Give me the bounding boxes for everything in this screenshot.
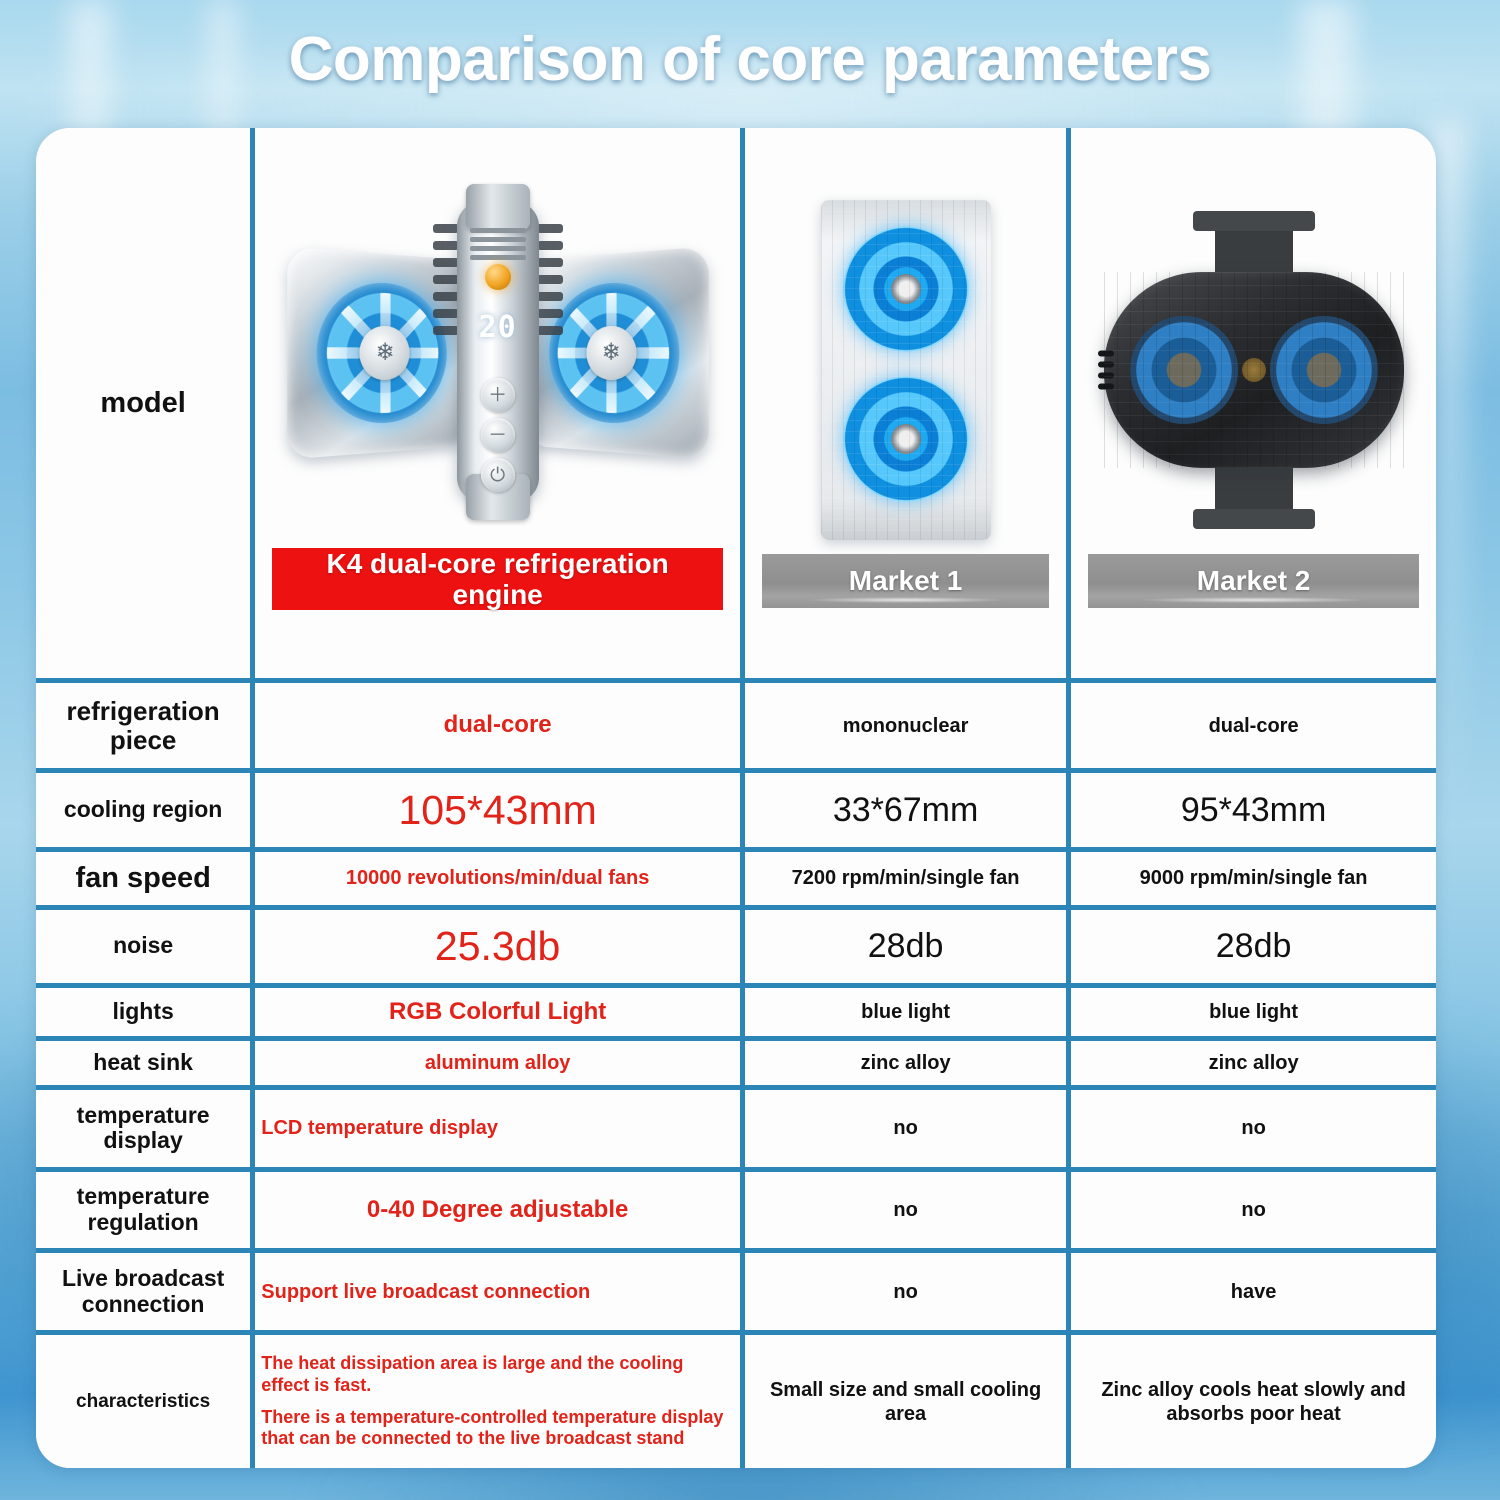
cell-market2-4: blue light (1069, 986, 1436, 1039)
cell-market2-8: have (1069, 1251, 1436, 1333)
cell-market2-1: 95*43mm (1069, 771, 1436, 850)
cell-market1-1: 33*67mm (743, 771, 1069, 850)
cell-k4-5-text: aluminum alloy (261, 1051, 734, 1075)
k4-cooler-illustration: ❄ (283, 192, 713, 542)
cell-k4-6-text: LCD temperature display (261, 1116, 734, 1140)
cell-market2-8-text: have (1077, 1280, 1430, 1304)
cell-market1-2-text: 7200 rpm/min/single fan (751, 866, 1060, 890)
cell-k4-5: aluminum alloy (253, 1039, 743, 1088)
cell-k4-2-text: 10000 revolutions/min/dual fans (261, 866, 734, 890)
cell-market2-1-text: 95*43mm (1077, 790, 1430, 831)
cell-k4-9-text: The heat dissipation area is large and t… (261, 1353, 734, 1449)
table-row: noise25.3db28db28db (36, 907, 1436, 986)
row-label-6: temperature display (36, 1088, 253, 1170)
row-label-0-text: refrigeration piece (42, 697, 244, 755)
amber-indicator-light (485, 264, 511, 290)
product-cell-k4: ❄ (253, 128, 743, 681)
table-header-row: model (36, 128, 1436, 681)
row-label-5-text: heat sink (42, 1050, 244, 1076)
k4-center-body: 20 ＋ － ⏻ (457, 202, 539, 502)
cell-market1-5: zinc alloy (743, 1039, 1069, 1088)
cell-market2-6: no (1069, 1088, 1436, 1170)
table-row: temperature displayLCD temperature displ… (36, 1088, 1436, 1170)
cell-market1-3-text: 28db (751, 926, 1060, 967)
cell-k4-8-text: Support live broadcast connection (261, 1280, 734, 1304)
cell-market1-8: no (743, 1251, 1069, 1333)
table-row: heat sinkaluminum alloyzinc alloyzinc al… (36, 1039, 1436, 1088)
row-label-1: cooling region (36, 771, 253, 850)
cell-market2-2-text: 9000 rpm/min/single fan (1077, 866, 1430, 890)
k4-grille-slots (470, 224, 526, 264)
cell-market1-4: blue light (743, 986, 1069, 1039)
product-image-k4: ❄ (261, 190, 734, 544)
comparison-table: model (36, 128, 1436, 1468)
k4-right-vents (537, 216, 563, 366)
cell-market2-4-text: blue light (1077, 1000, 1430, 1024)
pixelation-overlay (1104, 272, 1404, 468)
row-label-4: lights (36, 986, 253, 1039)
cell-k4-3: 25.3db (253, 907, 743, 986)
snowflake-icon: ❄ (359, 325, 409, 380)
product-image-market2 (1077, 190, 1430, 550)
cell-market1-0-text: mononuclear (751, 714, 1060, 738)
row-label-9-text: characteristics (42, 1391, 244, 1412)
cell-k4-8: Support live broadcast connection (253, 1251, 743, 1333)
cell-k4-7-text: 0-40 Degree adjustable (261, 1196, 734, 1225)
market1-cooler-illustration (821, 200, 991, 540)
row-label-3-text: noise (42, 933, 244, 959)
cell-market2-9-text: Zinc alloy cools heat slowly and absorbs… (1077, 1378, 1430, 1426)
row-label-2-text: fan speed (42, 862, 244, 894)
row-label-3: noise (36, 907, 253, 986)
cell-k4-0: dual-core (253, 681, 743, 771)
product-cell-market1: Market 1 (743, 128, 1069, 681)
cell-market2-5-text: zinc alloy (1077, 1051, 1430, 1075)
power-icon[interactable]: ⏻ (481, 458, 515, 492)
product-image-market1 (751, 190, 1060, 550)
cell-market1-5-text: zinc alloy (751, 1051, 1060, 1075)
cell-market2-3: 28db (1069, 907, 1436, 986)
table-row: temperature regulation0-40 Degree adjust… (36, 1169, 1436, 1251)
cell-market1-9-text: Small size and small cooling area (751, 1378, 1060, 1426)
cell-k4-1-text: 105*43mm (261, 786, 734, 835)
row-label-2: fan speed (36, 849, 253, 907)
cell-market1-7: no (743, 1169, 1069, 1251)
cell-market1-7-text: no (751, 1198, 1060, 1222)
row-label-8-text: Live broadcast connection (42, 1266, 244, 1318)
cell-k4-0-text: dual-core (261, 711, 734, 740)
row-label-6-text: temperature display (42, 1103, 244, 1155)
cell-k4-3-text: 25.3db (261, 922, 734, 971)
pixelation-overlay (821, 200, 991, 540)
cell-market2-9: Zinc alloy cools heat slowly and absorbs… (1069, 1333, 1436, 1468)
row-label-model: model (36, 128, 253, 681)
cell-market1-3: 28db (743, 907, 1069, 986)
row-label-8: Live broadcast connection (36, 1251, 253, 1333)
product-name-badge-k4: K4 dual-core refrigeration engine (272, 548, 723, 610)
row-label-5: heat sink (36, 1039, 253, 1088)
product-name-badge-market1: Market 1 (762, 554, 1049, 608)
cell-market1-8-text: no (751, 1280, 1060, 1304)
k4-left-fan: ❄ (316, 279, 446, 426)
row-label-9: characteristics (36, 1333, 253, 1468)
cell-market1-9: Small size and small cooling area (743, 1333, 1069, 1468)
cell-k4-7: 0-40 Degree adjustable (253, 1169, 743, 1251)
table-row: Live broadcast connectionSupport live br… (36, 1251, 1436, 1333)
minus-icon[interactable]: － (481, 418, 515, 452)
cell-market1-2: 7200 rpm/min/single fan (743, 849, 1069, 907)
cell-k4-9: The heat dissipation area is large and t… (253, 1333, 743, 1468)
table-row: characteristicsThe heat dissipation area… (36, 1333, 1436, 1468)
product-cell-market2: Market 2 (1069, 128, 1436, 681)
cell-k4-6: LCD temperature display (253, 1088, 743, 1170)
row-label-7-text: temperature regulation (42, 1184, 244, 1236)
cell-market2-3-text: 28db (1077, 926, 1430, 967)
cell-market2-2: 9000 rpm/min/single fan (1069, 849, 1436, 907)
market2-cooler-illustration (1089, 205, 1419, 535)
cell-k4-1: 105*43mm (253, 771, 743, 850)
cell-k4-4: RGB Colorful Light (253, 986, 743, 1039)
cell-market2-7: no (1069, 1169, 1436, 1251)
plus-icon[interactable]: ＋ (481, 378, 515, 412)
table-row: fan speed10000 revolutions/min/dual fans… (36, 849, 1436, 907)
row-label-1-text: cooling region (42, 797, 244, 823)
cell-market1-4-text: blue light (751, 1000, 1060, 1024)
cell-k4-2: 10000 revolutions/min/dual fans (253, 849, 743, 907)
cell-market2-7-text: no (1077, 1198, 1430, 1222)
snowflake-icon: ❄ (586, 325, 636, 380)
cell-market2-0-text: dual-core (1077, 714, 1430, 738)
cell-market2-0: dual-core (1069, 681, 1436, 771)
row-label-text: model (42, 387, 244, 419)
page-title: Comparison of core parameters (0, 24, 1500, 95)
cell-market1-6: no (743, 1088, 1069, 1170)
k4-lcd-temperature: 20 (479, 310, 517, 345)
row-label-7: temperature regulation (36, 1169, 253, 1251)
table-row: refrigeration piecedual-coremononucleard… (36, 681, 1436, 771)
k4-left-vents (433, 216, 459, 366)
table-row: lightsRGB Colorful Lightblue lightblue l… (36, 986, 1436, 1039)
cell-market1-1-text: 33*67mm (751, 790, 1060, 831)
cell-market1-0: mononuclear (743, 681, 1069, 771)
cell-market1-6-text: no (751, 1116, 1060, 1140)
comparison-table-card: model (36, 128, 1436, 1468)
row-label-4-text: lights (42, 999, 244, 1025)
product-name-badge-market2: Market 2 (1088, 554, 1419, 608)
k4-right-fan: ❄ (549, 279, 679, 426)
market2-shell (1104, 272, 1404, 468)
cell-market2-6-text: no (1077, 1116, 1430, 1140)
cell-k4-4-text: RGB Colorful Light (261, 998, 734, 1027)
row-label-0: refrigeration piece (36, 681, 253, 771)
table-row: cooling region105*43mm33*67mm95*43mm (36, 771, 1436, 850)
cell-market2-5: zinc alloy (1069, 1039, 1436, 1088)
